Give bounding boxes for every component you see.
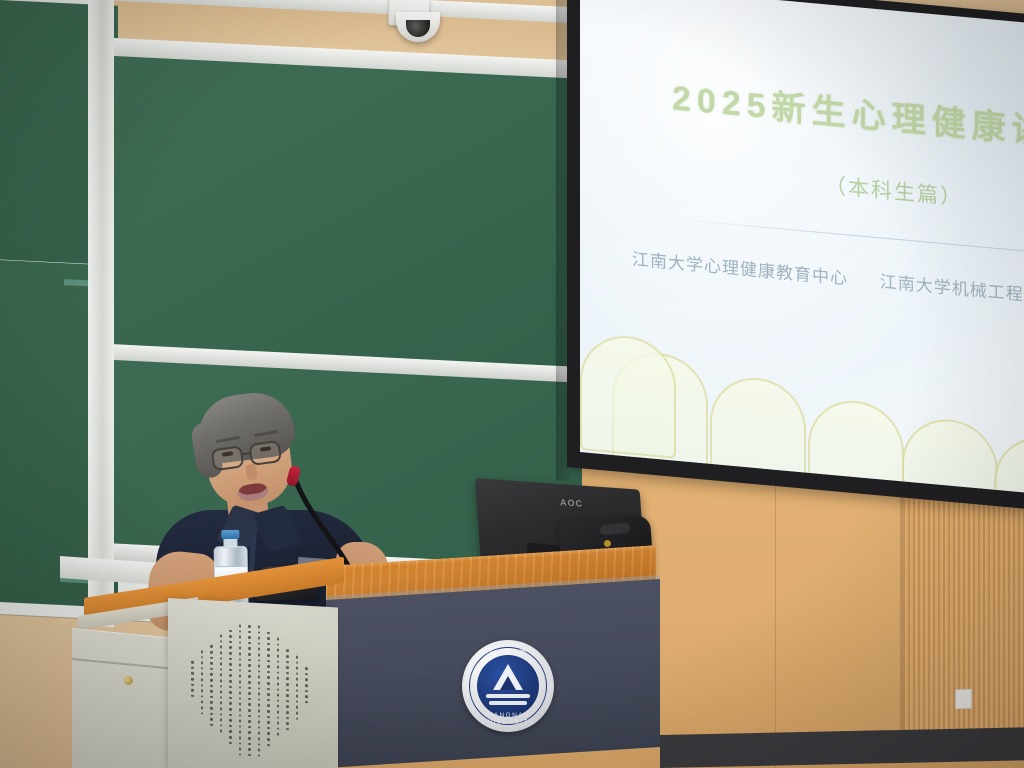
lecture-hall-photo: 2025新生心理健康讲座 （本科生篇） 江南大学心理健康教育中心 江南大学机械工… (0, 0, 1024, 768)
presenter-nose (245, 463, 258, 480)
bag-emblem-icon (604, 540, 611, 547)
wall-seam (775, 470, 776, 768)
monitor-brand-label: AOC (560, 497, 584, 509)
cabinet-lock-icon[interactable] (124, 676, 133, 685)
speaker-grille (196, 618, 306, 764)
bottle-cap (221, 530, 239, 539)
university-emblem: 江南大学 JIANGNAN UNIVERSITY (462, 640, 554, 732)
projection-screen: 2025新生心理健康讲座 （本科生篇） 江南大学心理健康教育中心 江南大学机械工… (580, 0, 1024, 493)
blackboard-mullion (88, 0, 114, 627)
emblem-text-bottom: JIANGNAN UNIVERSITY (462, 712, 554, 726)
wall-outlet[interactable] (955, 689, 972, 709)
blackboard-panel-main (114, 56, 580, 369)
